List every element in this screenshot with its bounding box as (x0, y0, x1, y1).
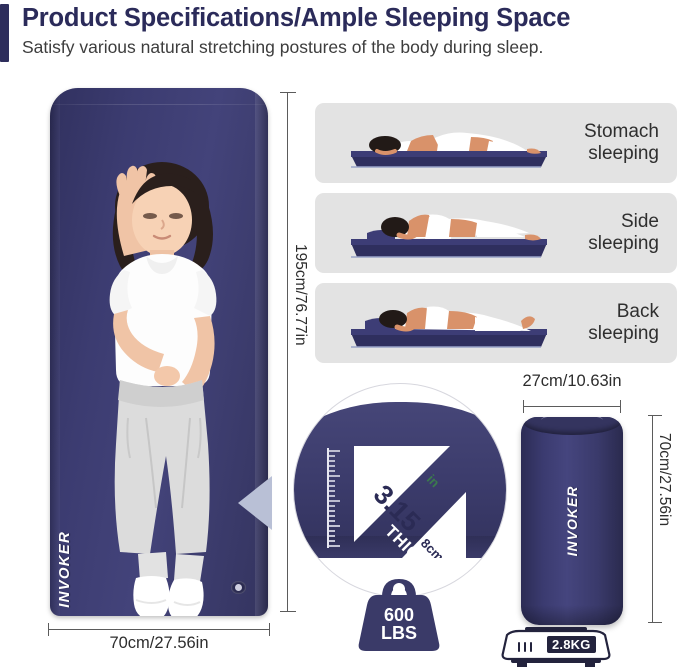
posture-panel-side: Side sleeping (315, 193, 677, 273)
dimension-line (48, 629, 270, 630)
posture-label-line1: Side (621, 211, 659, 232)
posture-label-line2: sleeping (588, 143, 659, 164)
person-lying-supine-icon (343, 291, 559, 355)
dimension-cap-bottom (280, 611, 296, 612)
mat-width-dimension: 70cm/27.56in (48, 623, 270, 653)
ruler-icon (320, 448, 342, 548)
posture-label-line2: sleeping (588, 323, 659, 344)
posture-label-back: Back sleeping (588, 301, 659, 345)
rolled-bag-diameter-label: 27cm/10.63in (492, 372, 652, 391)
posture-label-side: Side sleeping (588, 211, 659, 255)
posture-label-line2: sleeping (588, 233, 659, 254)
posture-label-line1: Back (617, 301, 659, 322)
weight-unit-text: LBS (381, 623, 417, 643)
thickness-diagonal-badge: 3.15 in THICKNESS 8cm (354, 446, 466, 558)
page-subtitle: Satisfy various natural stretching postu… (22, 37, 543, 58)
infographic-page: Product Specifications/Ample Sleeping Sp… (0, 0, 679, 670)
thickness-callout-circle: 3.15 in THICKNESS 8cm (294, 384, 506, 596)
dimension-line (652, 415, 653, 623)
dimension-cap-bottom (648, 622, 662, 623)
posture-label-line1: Stomach (584, 121, 659, 142)
thickness-inches-unit-text: in (424, 472, 443, 491)
product-weight-scale: 2.8KG (497, 625, 615, 667)
callout-arrow-icon (238, 476, 272, 530)
scale-display-value: 2.8KG (547, 636, 596, 653)
rolled-bag-height-label: 70cm/27.56in (655, 433, 673, 526)
person-lying-prone-icon (343, 111, 559, 175)
sleeping-mat: INVOKER (50, 88, 268, 616)
mat-brand-label: INVOKER (56, 531, 73, 608)
dimension-cap-top (648, 415, 662, 416)
mat-width-label: 70cm/27.56in (48, 634, 270, 653)
kettlebell-weight-icon: 600 LBS (358, 575, 440, 653)
rolled-bag: INVOKER (521, 417, 623, 625)
dimension-cap-right (620, 400, 621, 413)
dimension-line (523, 406, 621, 407)
rolled-bag-height-dimension: 70cm/27.56in (648, 415, 670, 623)
page-title: Product Specifications/Ample Sleeping Sp… (22, 4, 570, 33)
rolled-bag-brand-label: INVOKER (564, 486, 580, 557)
mat-length-dimension: 195cm/76.77in (277, 92, 279, 612)
posture-label-stomach: Stomach sleeping (584, 121, 659, 165)
posture-panel-stomach: Stomach sleeping (315, 103, 677, 183)
woman-lying-on-mat-illustration (50, 88, 268, 616)
dimension-cap-top (280, 92, 296, 93)
sleeping-mat-illustration: INVOKER (50, 88, 268, 616)
posture-panel-back: Back sleeping (315, 283, 677, 363)
rolled-bag-bottom-shadow (521, 605, 623, 625)
dimension-line (287, 92, 288, 612)
inflation-valve-icon (231, 581, 246, 594)
mat-length-label: 195cm/76.77in (291, 244, 309, 346)
person-lying-side-icon (343, 201, 559, 265)
header-accent-bar (0, 4, 9, 62)
rolled-bag-diameter-dimension (523, 398, 621, 416)
weight-value-text: 600 (384, 605, 414, 625)
weight-capacity-badge: 600 LBS (358, 575, 440, 653)
